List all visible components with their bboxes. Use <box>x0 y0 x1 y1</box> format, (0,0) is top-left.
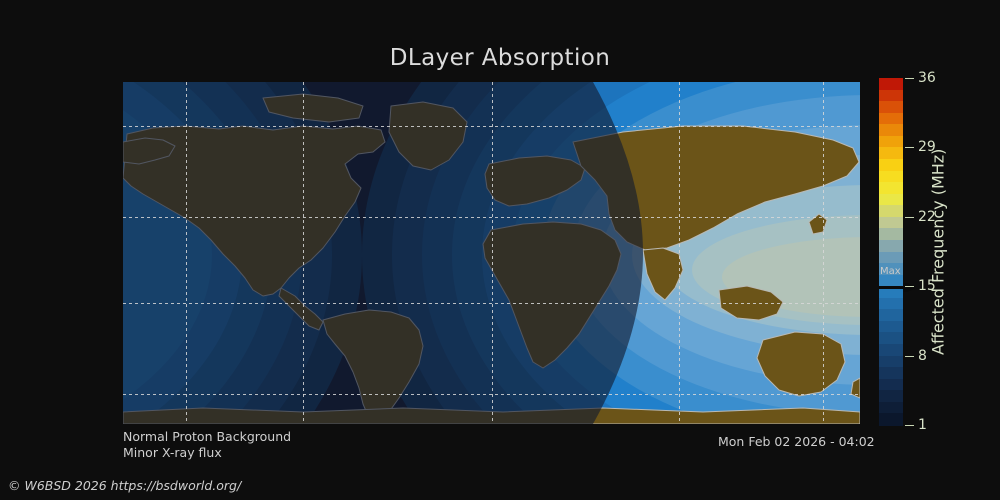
colorbar-band <box>879 113 903 125</box>
colorbar-tick-label: 15 <box>918 278 936 294</box>
right-arrow-icon <box>879 283 915 292</box>
colorbar-tick <box>905 286 914 287</box>
colorbar-tick-label: 22 <box>918 209 936 225</box>
colorbar-tick-label: 29 <box>918 139 936 155</box>
world-map[interactable] <box>123 82 860 424</box>
gridline-lon-120e <box>823 82 824 424</box>
copyright-notice: © W6BSD 2026 https://bsdworld.org/ <box>8 478 241 493</box>
dlayer-absorption-screen: DLayer Absorption <box>0 0 1000 500</box>
colorbar-band <box>879 101 903 113</box>
colorbar-band <box>879 379 903 391</box>
colorbar-tick <box>905 425 914 426</box>
colorbar-tick-label: 36 <box>918 70 936 86</box>
colorbar-band <box>879 413 903 425</box>
colorbar-axis-label: Affected Frequency (MHz) <box>923 78 953 425</box>
status-line-1: Normal Proton Background <box>123 429 291 445</box>
colorbar-band <box>879 228 903 240</box>
colorbar-band <box>879 124 903 136</box>
colorbar-band <box>879 147 903 159</box>
colorbar-tick <box>905 147 914 148</box>
colorbar-band <box>879 217 903 229</box>
colorbar-band <box>879 356 903 368</box>
colorbar[interactable] <box>879 78 903 425</box>
gridline-lon-60w <box>303 82 304 424</box>
colorbar-band <box>879 252 903 264</box>
colorbar-tick <box>905 217 914 218</box>
colorbar-band <box>879 159 903 171</box>
colorbar-band <box>879 136 903 148</box>
gridline-lon-120w <box>186 82 187 424</box>
colorbar-band <box>879 309 903 321</box>
colorbar-band <box>879 182 903 194</box>
gridline-lon-0 <box>492 82 493 424</box>
colorbar-band <box>879 390 903 402</box>
colorbar-tick-label: 8 <box>918 348 927 364</box>
colorbar-band <box>879 367 903 379</box>
colorbar-band <box>879 205 903 217</box>
colorbar-band <box>879 298 903 310</box>
colorbar-band <box>879 90 903 102</box>
colorbar-band <box>879 240 903 252</box>
colorbar-tick <box>905 356 914 357</box>
gridline-lon-60e <box>679 82 680 424</box>
colorbar-band <box>879 332 903 344</box>
status-text: Normal Proton Background Minor X-ray flu… <box>123 429 291 461</box>
night-shadow <box>123 82 643 424</box>
timestamp: Mon Feb 02 2026 - 04:02 <box>718 434 875 449</box>
page-title: DLayer Absorption <box>0 45 1000 71</box>
status-line-2: Minor X-ray flux <box>123 445 291 461</box>
colorbar-tick-label: 1 <box>918 417 927 433</box>
colorbar-band <box>879 171 903 183</box>
colorbar-band <box>879 402 903 414</box>
colorbar-band <box>879 78 903 90</box>
colorbar-tick <box>905 78 914 79</box>
colorbar-band <box>879 321 903 333</box>
colorbar-band <box>879 344 903 356</box>
colorbar-band <box>879 194 903 206</box>
